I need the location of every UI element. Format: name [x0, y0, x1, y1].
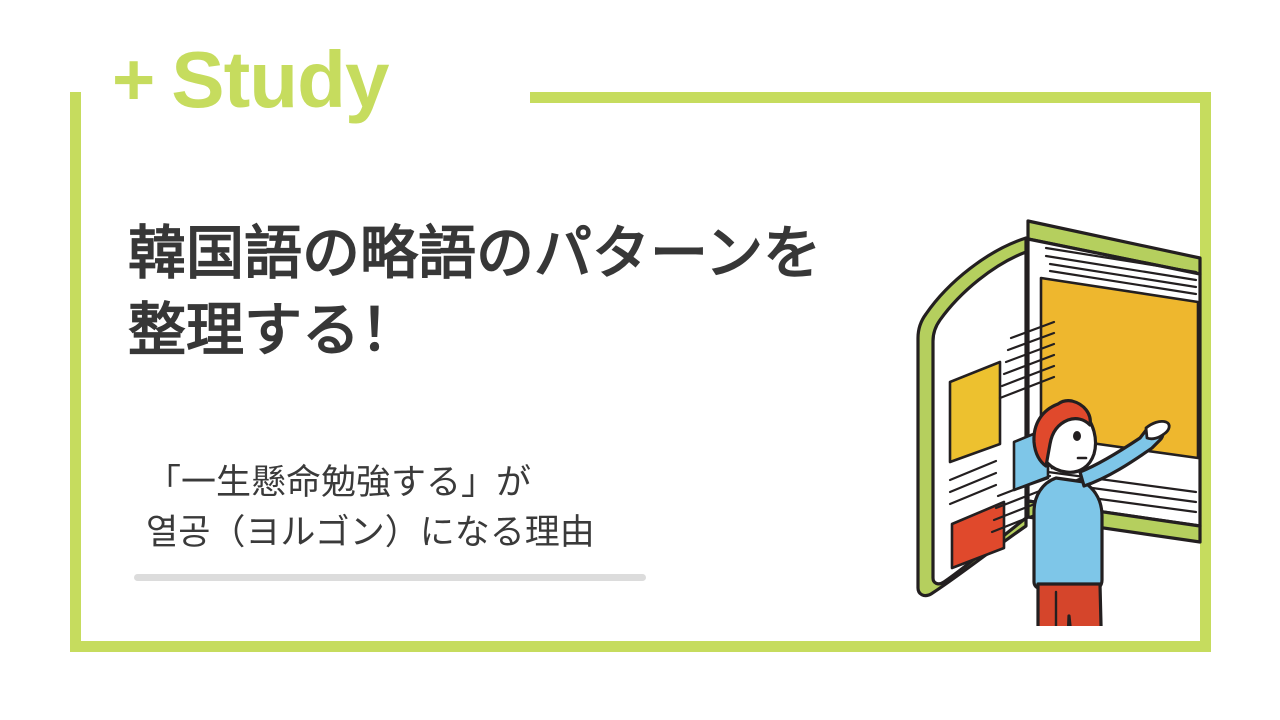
page-subtitle: 「一生懸命勉強する」が 열공（ヨルゴン）になる理由 — [146, 458, 766, 557]
page-title-line-2: 整理する！ — [128, 293, 828, 370]
frame-left-bar — [70, 92, 81, 652]
illustration-person-pointing-at-open-book — [828, 196, 1208, 626]
frame-top-bar — [530, 92, 1211, 103]
page-title: 韓国語の略語のパターンを 整理する！ — [128, 216, 828, 369]
subtitle-divider — [134, 574, 646, 581]
slide-canvas: + Study 韓国語の略語のパターンを 整理する！ 「一生懸命勉強する」が 열… — [0, 0, 1280, 720]
open-book-illustration-svg — [828, 196, 1208, 626]
eyebrow-label: Study — [171, 40, 388, 120]
page-subtitle-line-2: 열공（ヨルゴン）になる理由 — [146, 508, 766, 558]
plus-icon: + — [112, 43, 153, 117]
page-title-line-1: 韓国語の略語のパターンを — [128, 216, 828, 293]
frame-bottom-bar — [70, 641, 1211, 652]
page-subtitle-line-1: 「一生懸命勉強する」が — [146, 458, 766, 508]
eyebrow: + Study — [112, 40, 388, 120]
